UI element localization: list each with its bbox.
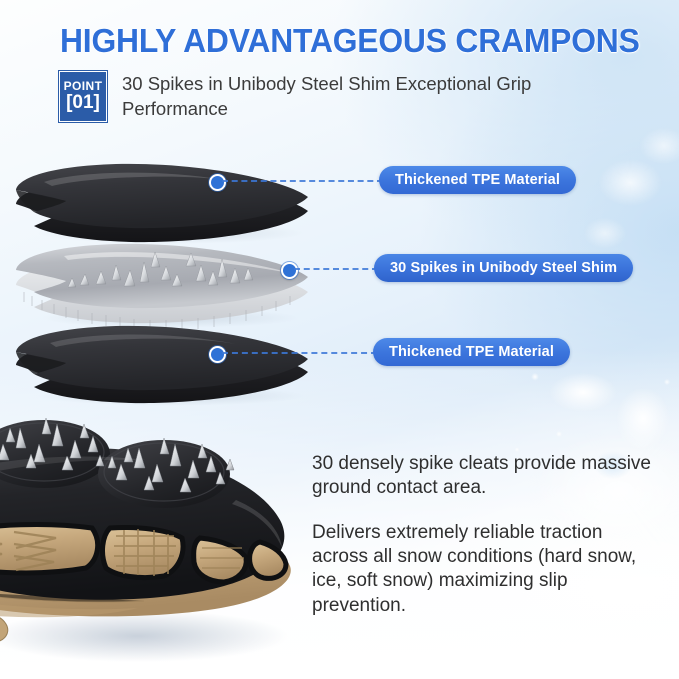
callout-line-middle [294,268,378,270]
callout-pill-top: Thickened TPE Material [379,166,576,194]
callout-line-top [222,180,383,182]
callout-pill-bottom: Thickened TPE Material [373,338,570,366]
layer-bottom-tpe-pad [4,318,324,408]
paragraph-spacer [312,501,662,521]
callout-line-bottom [222,352,377,354]
infographic-page: HIGHLY ADVANTAGEOUS CRAMPONS POINT [01] … [0,0,679,679]
exploded-layers-diagram: Thickened TPE Material [0,150,679,395]
callout-dot-bottom [209,346,226,363]
body-paragraph-1: 30 densely spike cleats provide massive … [312,452,662,501]
boot-with-crampon-photo [0,396,328,679]
point-badge-number: [01] [66,93,100,113]
point-heading-text: 30 Spikes in Unibody Steel Shim Exceptio… [122,70,577,121]
callout-pill-middle: 30 Spikes in Unibody Steel Shim [374,254,633,282]
page-title: HIGHLY ADVANTAGEOUS CRAMPONS [60,22,639,60]
callout-dot-top [209,174,226,191]
point-badge-word: POINT [64,80,103,92]
body-copy-block: 30 densely spike cleats provide massive … [312,452,662,618]
callout-dot-middle [281,262,298,279]
point-heading-row: POINT [01] 30 Spikes in Unibody Steel Sh… [58,70,577,123]
point-badge: POINT [01] [58,70,108,123]
layer-top-tpe-pad [4,156,324,246]
body-paragraph-2: Delivers extremely reliable traction acr… [312,521,662,618]
